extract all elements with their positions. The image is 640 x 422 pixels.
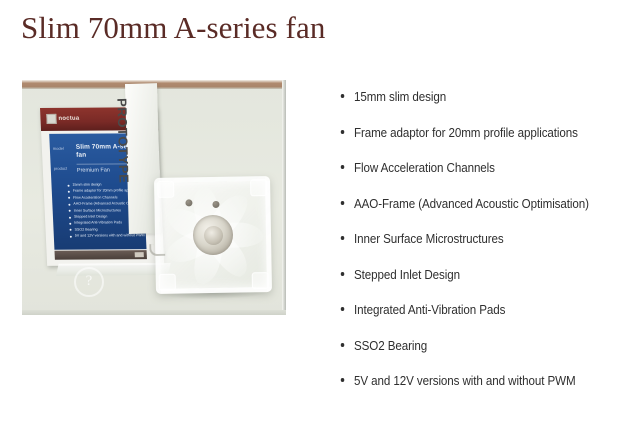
prototype-label: PROTOTYPE [114,98,132,218]
noctua-logo: noctua [46,114,79,124]
fan-corner-bottom-right [252,272,269,289]
feature-item: Inner Surface Microstructures [339,230,596,266]
transparent-fan [154,176,272,294]
card-footer-mark-icon [135,252,144,257]
noctua-logo-icon [46,114,56,124]
feature-item: Frame adaptor for 20mm profile applicati… [339,124,596,160]
fan-cable [149,244,165,256]
fan-hub-inner [203,225,222,244]
feature-item: Flow Acceleration Channels [339,159,596,195]
fan-corner-top-left [157,181,174,198]
page-title: Slim 70mm A-series fan [21,8,325,48]
feature-list: 15mm slim designFrame adaptor for 20mm p… [339,88,631,408]
feature-item: Stepped Inlet Design [339,266,596,302]
card-stand [56,263,171,276]
feature-item: 15mm slim design [339,88,596,124]
fan-corner-bottom-left [159,274,176,291]
product-photo: noctua model product Slim 70mm A-series … [22,80,286,315]
feature-item: 5V and 12V versions with and without PWM [339,372,596,408]
photo-right-edge [282,80,286,315]
fan-corner-top-right [250,179,267,196]
card-label-product: product [54,166,68,171]
feature-item: Integrated Anti-Vibration Pads [339,301,596,337]
card-footer-band [54,250,146,260]
feature-item: AAO-Frame (Advanced Acoustic Optimisatio… [339,195,596,231]
photo-watermark: ? [74,267,104,297]
photo-bottom-edge [22,310,286,315]
card-label-model: model [53,146,64,151]
feature-item: SSO2 Bearing [339,337,596,373]
noctua-logo-text: noctua [58,116,79,122]
fan-screw [212,201,219,208]
